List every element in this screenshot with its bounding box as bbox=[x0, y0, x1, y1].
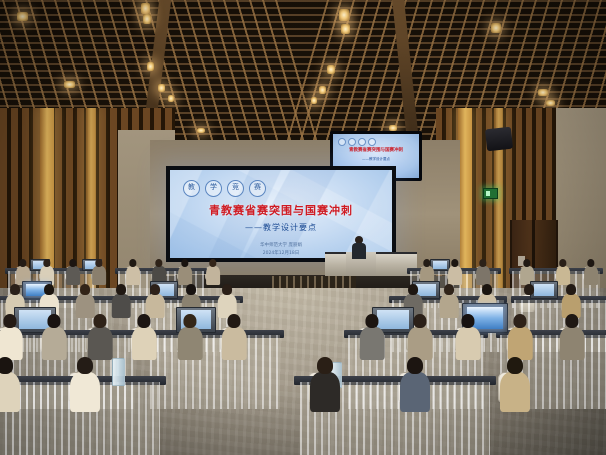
attendee-head bbox=[48, 314, 61, 328]
spotlight-9 bbox=[64, 81, 75, 88]
attendee-head bbox=[77, 357, 93, 374]
spotlight-13 bbox=[319, 86, 326, 94]
spotlight-7 bbox=[197, 128, 205, 133]
attendee-r0-6 bbox=[178, 259, 192, 285]
attendee-torso bbox=[556, 266, 570, 284]
slide-badge-group: 教学竞赛 bbox=[183, 180, 266, 197]
attendee-torso bbox=[310, 372, 340, 412]
spotlight-14 bbox=[311, 97, 317, 104]
confidence-monitor-badges bbox=[338, 138, 376, 146]
attendee-r2-8 bbox=[456, 314, 481, 361]
attendee-r0-4 bbox=[126, 259, 140, 285]
attendee-head bbox=[423, 259, 430, 267]
attendee-head bbox=[43, 259, 50, 267]
attendee-head bbox=[150, 284, 160, 295]
attendee-head bbox=[129, 259, 136, 267]
attendee-r0-3 bbox=[92, 259, 106, 285]
attendee-head bbox=[155, 259, 162, 267]
attendee-torso bbox=[70, 372, 100, 412]
attendee-r0-2 bbox=[66, 259, 80, 285]
attendee-torso bbox=[88, 327, 113, 360]
attendee-head bbox=[559, 259, 566, 267]
attendee-torso bbox=[476, 266, 490, 284]
attendee-head bbox=[4, 314, 17, 328]
attendee-head bbox=[414, 314, 427, 328]
attendee-torso bbox=[408, 327, 433, 360]
attendee-torso bbox=[42, 327, 67, 360]
attendee-head bbox=[482, 284, 492, 295]
attendee-head bbox=[181, 259, 188, 267]
attendee-r2-4 bbox=[178, 314, 203, 361]
attendee-r1-3 bbox=[112, 284, 131, 319]
spotlight-18 bbox=[546, 100, 555, 106]
attendee-head bbox=[222, 284, 232, 295]
attendee-r0-12 bbox=[556, 259, 570, 285]
attendee-head bbox=[566, 314, 579, 328]
attendee-torso bbox=[0, 327, 23, 360]
attendee-r2-5 bbox=[222, 314, 247, 361]
laptop-screen bbox=[433, 261, 447, 269]
attendee-torso bbox=[508, 327, 533, 360]
attendee-head bbox=[80, 284, 90, 295]
attendee-head bbox=[514, 314, 527, 328]
table-skirt bbox=[150, 335, 280, 409]
attendee-torso bbox=[400, 372, 430, 412]
attendee-head bbox=[408, 284, 418, 295]
attendee-torso bbox=[132, 327, 157, 360]
spotlight-16 bbox=[491, 23, 501, 33]
attendee-head bbox=[19, 259, 26, 267]
attendee-torso bbox=[206, 266, 220, 284]
attendee-torso bbox=[178, 266, 192, 284]
slide-badge-4: 赛 bbox=[249, 180, 266, 197]
attendee-r3-1 bbox=[70, 357, 100, 414]
spotlight-17 bbox=[538, 89, 548, 96]
attendee-torso bbox=[448, 266, 462, 284]
attendee-torso bbox=[126, 266, 140, 284]
attendee-r2-7 bbox=[408, 314, 433, 361]
spotlight-3 bbox=[147, 62, 154, 71]
attendee-r0-9 bbox=[448, 259, 462, 285]
spotlight-1 bbox=[141, 3, 150, 14]
attendee-torso bbox=[112, 294, 131, 319]
water-bottle-r3-0[interactable] bbox=[112, 358, 125, 386]
attendee-torso bbox=[584, 266, 598, 284]
attendee-r2-1 bbox=[42, 314, 67, 361]
attendee-head bbox=[479, 259, 486, 267]
attendee-torso bbox=[500, 372, 530, 412]
slide-badge-3: 竞 bbox=[227, 180, 244, 197]
slide-badge-1: 教 bbox=[183, 180, 200, 197]
attendee-head bbox=[587, 259, 594, 267]
attendee-torso bbox=[360, 327, 385, 360]
attendee-head bbox=[44, 284, 54, 295]
attendee-torso bbox=[66, 266, 80, 284]
confidence-monitor-title: 青教赛省赛突围与国赛冲刺 bbox=[333, 147, 419, 153]
attendee-torso bbox=[0, 372, 20, 412]
attendee-head bbox=[228, 314, 241, 328]
attendee-r0-10 bbox=[476, 259, 490, 285]
conference-room-photo: 青教赛省赛突围与国赛冲刺 ——教学设计要点 教学竞赛 青教赛省赛突围与国赛冲刺 … bbox=[0, 0, 606, 455]
attendee-r2-3 bbox=[132, 314, 157, 361]
loudspeaker-icon bbox=[485, 127, 513, 152]
attendee-r0-13 bbox=[584, 259, 598, 285]
attendee-r2-2 bbox=[88, 314, 113, 361]
attendee-r2-9 bbox=[508, 314, 533, 361]
attendee-head bbox=[94, 314, 107, 328]
slide-badge-2: 学 bbox=[205, 180, 222, 197]
attendee-head bbox=[0, 357, 13, 374]
attendee-r3-0 bbox=[0, 357, 20, 414]
attendee-head bbox=[507, 357, 523, 374]
presenter-figure bbox=[352, 236, 366, 258]
spotlight-10 bbox=[339, 9, 349, 21]
confidence-monitor-subtitle: ——教学设计要点 bbox=[333, 157, 419, 162]
spotlight-4 bbox=[158, 84, 165, 92]
attendee-torso bbox=[456, 327, 481, 360]
attendee-head bbox=[10, 284, 20, 295]
slide-subtitle: ——教学设计要点 bbox=[170, 222, 392, 233]
attendee-head bbox=[366, 314, 379, 328]
attendee-head bbox=[186, 284, 196, 295]
attendee-head bbox=[138, 314, 151, 328]
attendee-head bbox=[209, 259, 216, 267]
attendee-torso bbox=[92, 266, 106, 284]
attendee-head bbox=[451, 259, 458, 267]
attendee-head bbox=[462, 314, 475, 328]
attendee-torso bbox=[222, 327, 247, 360]
table-r2-1 bbox=[150, 330, 280, 409]
attendee-head bbox=[95, 259, 102, 267]
attendee-head bbox=[524, 284, 534, 295]
spotlight-12 bbox=[327, 65, 335, 74]
spotlight-5 bbox=[168, 95, 174, 102]
attendee-torso bbox=[560, 327, 585, 360]
attendee-r2-10 bbox=[560, 314, 585, 361]
attendee-r0-7 bbox=[206, 259, 220, 285]
attendee-head bbox=[116, 284, 126, 295]
attendee-torso bbox=[178, 327, 203, 360]
attendee-head bbox=[69, 259, 76, 267]
attendee-head bbox=[444, 284, 454, 295]
spotlight-11 bbox=[341, 24, 350, 34]
spotlight-2 bbox=[143, 14, 151, 24]
attendee-r3-4 bbox=[500, 357, 530, 414]
attendee-head bbox=[566, 284, 576, 295]
attendee-r3-3 bbox=[400, 357, 430, 414]
slide-title: 青教赛省赛突围与国赛冲刺 bbox=[170, 202, 392, 218]
spotlight-8 bbox=[17, 12, 28, 21]
attendee-head bbox=[184, 314, 197, 328]
presenter-body bbox=[352, 243, 366, 259]
exit-sign-icon bbox=[483, 188, 498, 199]
attendee-r3-2 bbox=[310, 357, 340, 414]
attendee-head bbox=[407, 357, 423, 374]
attendee-r2-6 bbox=[360, 314, 385, 361]
attendee-head bbox=[317, 357, 333, 374]
attendee-head bbox=[523, 259, 530, 267]
attendee-r2-0 bbox=[0, 314, 23, 361]
